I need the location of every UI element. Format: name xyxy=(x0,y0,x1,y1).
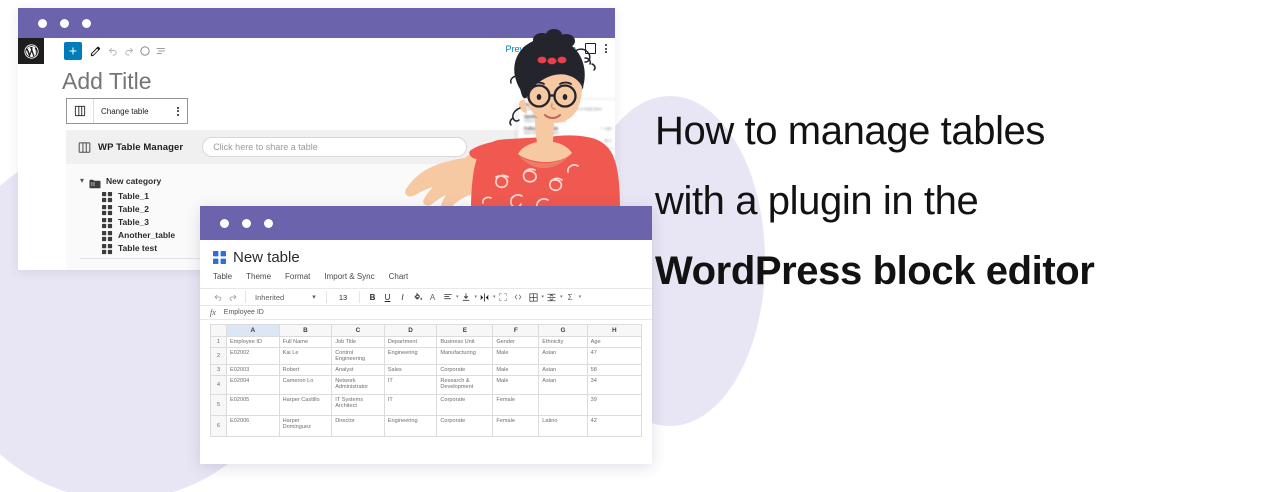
window-dot-close[interactable] xyxy=(38,19,47,28)
grid-corner-cell[interactable] xyxy=(211,325,227,337)
column-header-row: A B C D E F G H xyxy=(211,325,642,337)
dropdown-item-title: Visual editor xyxy=(524,159,615,164)
merge-cells-icon[interactable] xyxy=(477,290,492,305)
cell-e6[interactable]: Corporate xyxy=(437,416,493,437)
bold-button[interactable]: B xyxy=(365,290,380,305)
headline-line-1: How to manage tables xyxy=(655,96,1255,166)
tree-category-label: New category xyxy=(106,176,161,186)
post-title-placeholder[interactable]: Add Title xyxy=(62,68,152,95)
cell-e3[interactable]: Corporate xyxy=(437,365,493,376)
row-header[interactable]: 2 xyxy=(211,348,227,365)
cell-a2[interactable]: E02002 xyxy=(227,348,280,365)
dropdown-item-shortcut: ⌃⌥⌘F xyxy=(599,127,612,131)
row-header[interactable]: 3 xyxy=(211,365,227,376)
cell-b4[interactable]: Cameron Lo xyxy=(279,376,332,395)
cell-d2[interactable]: Engineering xyxy=(384,348,437,365)
dropdown-item-subtitle: Work without distraction xyxy=(524,131,615,135)
cell-d4[interactable]: IT xyxy=(384,376,437,395)
cell-g5[interactable] xyxy=(539,395,587,416)
cell-g1[interactable]: Ethnicity xyxy=(539,337,587,348)
cell-h6[interactable]: 42 xyxy=(587,416,641,437)
window-dot-minimize[interactable] xyxy=(60,19,69,28)
cell-f3[interactable]: Male xyxy=(493,365,539,376)
cell-c4[interactable]: Network Administrator xyxy=(332,376,385,395)
tree-item-label: Table_3 xyxy=(118,217,149,227)
wp-table-manager-title: WP Table Manager xyxy=(98,142,183,153)
code-icon[interactable] xyxy=(511,290,526,305)
row-header[interactable]: 6 xyxy=(211,416,227,437)
dropdown-item-spotlight-mode[interactable]: Spotlight mode Focus on one block at a t… xyxy=(518,112,615,124)
publish-button[interactable]: Publish xyxy=(546,44,576,54)
change-table-label[interactable]: Change table xyxy=(94,107,169,116)
cell-b5[interactable]: Harper Castillo xyxy=(279,395,332,416)
back-window-titlebar xyxy=(18,8,615,38)
dropdown-section-editor: Editor xyxy=(518,148,615,157)
wrap-text-icon[interactable] xyxy=(496,290,511,305)
dropdown-item-subtitle: Focus on one block at a time xyxy=(524,119,615,123)
align-left-icon[interactable] xyxy=(440,290,455,305)
table-manager-window: New table Table Theme Format Import & Sy… xyxy=(200,206,652,464)
dropdown-item-shortcut: ⌘⇧\ xyxy=(604,139,612,143)
screenshot-canvas: Preview Publish Add Title Change table xyxy=(0,0,1280,492)
cell-d6[interactable]: Engineering xyxy=(384,416,437,437)
cell-h2[interactable]: 47 xyxy=(587,348,641,365)
cell-g2[interactable]: Asian xyxy=(539,348,587,365)
spreadsheet-menubar: Table Theme Format Import & Sync Chart xyxy=(200,266,652,281)
dropdown-item-top-toolbar[interactable]: Top toolbar Access all block and documen… xyxy=(518,100,615,112)
cell-a6[interactable]: E02006 xyxy=(227,416,280,437)
undo-icon[interactable] xyxy=(210,290,225,305)
block-more-options-icon[interactable] xyxy=(169,107,187,116)
divider xyxy=(326,291,327,303)
cell-g4[interactable]: Asian xyxy=(539,376,587,395)
page-title: How to manage tables with a plugin in th… xyxy=(655,96,1255,306)
headline-line-3: WordPress block editor xyxy=(655,236,1255,306)
chevron-down-icon[interactable]: ▾ xyxy=(307,293,321,301)
cell-f4[interactable]: Male xyxy=(493,376,539,395)
paint-bucket-icon[interactable] xyxy=(410,290,425,305)
row-height-icon[interactable] xyxy=(544,290,559,305)
cell-d5[interactable]: IT xyxy=(384,395,437,416)
formula-input[interactable]: Employee ID xyxy=(224,309,264,316)
table-row: 1 Employee ID Full Name Job Title Depart… xyxy=(211,337,642,348)
dropdown-item-visual-editor[interactable]: Visual editor ✓ xyxy=(518,157,615,165)
menu-format[interactable]: Format xyxy=(285,272,310,281)
divider xyxy=(359,291,360,303)
cell-b6[interactable]: Harper Dominguez xyxy=(279,416,332,437)
spreadsheet-grid: A B C D E F G H 1 Employee xyxy=(210,324,642,437)
cell-e5[interactable]: Corporate xyxy=(437,395,493,416)
wordpress-top-toolbar: Preview Publish xyxy=(18,38,615,64)
table-name-row: New table xyxy=(200,240,652,266)
block-toolbar: Change table xyxy=(66,98,188,124)
dropdown-item-subtitle: Access all block and document tools in a… xyxy=(524,107,615,111)
table-columns-icon xyxy=(77,140,92,155)
cell-c1[interactable]: Job Title xyxy=(332,337,385,348)
cell-g6[interactable]: Latino xyxy=(539,416,587,437)
italic-button[interactable]: I xyxy=(395,290,410,305)
cell-a5[interactable]: E02005 xyxy=(227,395,280,416)
table-block-icon[interactable] xyxy=(67,99,94,123)
cell-a3[interactable]: E02003 xyxy=(227,365,280,376)
column-header-g[interactable]: G xyxy=(539,325,587,337)
tree-item-label: Another_table xyxy=(118,230,175,240)
column-header-b[interactable]: B xyxy=(279,325,332,337)
grid-icon xyxy=(102,203,113,214)
kebab-menu-icon[interactable] xyxy=(605,44,607,53)
cell-c2[interactable]: Control Engineering xyxy=(332,348,385,365)
row-header[interactable]: 5 xyxy=(211,395,227,416)
font-family-select[interactable]: Inherited xyxy=(251,293,307,302)
table-row: 5 E02005 Harper Castillo IT Systems Arch… xyxy=(211,395,642,416)
window-dot-close[interactable] xyxy=(220,219,229,228)
cell-b3[interactable]: Robert xyxy=(279,365,332,376)
table-row: 6 E02006 Harper Dominguez Director Engin… xyxy=(211,416,642,437)
cell-h3[interactable]: 58 xyxy=(587,365,641,376)
cell-c6[interactable]: Director xyxy=(332,416,385,437)
grid-icon xyxy=(102,229,113,240)
cell-e4[interactable]: Research & Development xyxy=(437,376,493,395)
settings-sidebar-icon[interactable] xyxy=(585,43,596,54)
cell-e2[interactable]: Manufacturing xyxy=(437,348,493,365)
column-header-c[interactable]: C xyxy=(332,325,385,337)
cell-b1[interactable]: Full Name xyxy=(279,337,332,348)
row-header[interactable]: 1 xyxy=(211,337,227,348)
table-name[interactable]: New table xyxy=(233,249,300,266)
cell-f1[interactable]: Gender xyxy=(493,337,539,348)
cell-f6[interactable]: Female xyxy=(493,416,539,437)
dropdown-item-distraction-free[interactable]: Distraction free Write with calmness ⌘⇧\ xyxy=(518,136,615,148)
preview-button[interactable]: Preview xyxy=(505,44,537,54)
spreadsheet-grid-wrapper: A B C D E F G H 1 Employee xyxy=(200,320,652,437)
underline-button[interactable]: U xyxy=(380,290,395,305)
cell-c3[interactable]: Analyst xyxy=(332,365,385,376)
column-header-h[interactable]: H xyxy=(587,325,641,337)
headline-line-2: with a plugin in the xyxy=(655,166,1255,236)
menu-import-sync[interactable]: Import & Sync xyxy=(324,272,374,281)
table-row: 3 E02003 Robert Analyst Sales Corporate … xyxy=(211,365,642,376)
grid-icon xyxy=(102,242,113,253)
cell-h5[interactable]: 39 xyxy=(587,395,641,416)
chevron-down-icon[interactable]: ▾ xyxy=(80,177,84,185)
cell-e1[interactable]: Business Unit xyxy=(437,337,493,348)
vertical-align-icon[interactable] xyxy=(459,290,474,305)
cell-d1[interactable]: Department xyxy=(384,337,437,348)
text-color-icon[interactable]: A xyxy=(425,290,440,305)
folder-icon xyxy=(89,176,101,186)
font-size-input[interactable]: 13 xyxy=(332,293,354,302)
column-header-a[interactable]: A xyxy=(227,325,280,337)
menu-theme[interactable]: Theme xyxy=(246,272,271,281)
cell-h4[interactable]: 34 xyxy=(587,376,641,395)
table-row: 4 E02004 Cameron Lo Network Administrato… xyxy=(211,376,642,395)
grid-icon xyxy=(102,216,113,227)
grid-icon xyxy=(102,190,113,201)
wordpress-publish-actions: Preview Publish xyxy=(505,43,607,54)
redo-icon[interactable] xyxy=(225,290,240,305)
share-table-input[interactable]: Click here to share a table xyxy=(202,137,467,157)
tree-item-label: Table test xyxy=(118,243,157,253)
divider xyxy=(245,291,246,303)
cell-f2[interactable]: Male xyxy=(493,348,539,365)
dropdown-item-code-editor[interactable]: ⌃⌥⌘M xyxy=(518,165,615,168)
front-window-titlebar xyxy=(200,206,652,240)
tree-item-label: Table_2 xyxy=(118,204,149,214)
formula-bar: fx Employee ID xyxy=(200,306,652,320)
cell-d3[interactable]: Sales xyxy=(384,365,437,376)
spreadsheet-format-toolbar: Inherited ▾ 13 B U I A ▾ ▾ xyxy=(200,288,652,306)
sigma-icon[interactable]: Σ xyxy=(563,290,578,305)
tree-item-label: Table_1 xyxy=(118,191,149,201)
cell-a1[interactable]: Employee ID xyxy=(227,337,280,348)
grid-blue-icon xyxy=(213,251,226,264)
wordpress-logo-icon[interactable] xyxy=(18,38,44,64)
add-block-button[interactable] xyxy=(64,42,82,60)
editor-options-dropdown[interactable]: Top toolbar Access all block and documen… xyxy=(518,100,615,218)
column-header-e[interactable]: E xyxy=(437,325,493,337)
cell-g3[interactable]: Asian xyxy=(539,365,587,376)
chevron-down-icon[interactable]: ▾ xyxy=(579,294,582,300)
column-header-f[interactable]: F xyxy=(493,325,539,337)
borders-icon[interactable] xyxy=(526,290,541,305)
menu-table[interactable]: Table xyxy=(213,272,232,281)
list-view-icon[interactable] xyxy=(152,42,170,60)
dropdown-item-shortcut: ⌃⌥⌘M xyxy=(598,168,612,172)
cell-a4[interactable]: E02004 xyxy=(227,376,280,395)
cell-h1[interactable]: Age xyxy=(587,337,641,348)
column-header-d[interactable]: D xyxy=(384,325,437,337)
window-dot-maximize[interactable] xyxy=(264,219,273,228)
fx-label: fx xyxy=(210,308,216,317)
cell-c5[interactable]: IT Systems Architect xyxy=(332,395,385,416)
window-dot-minimize[interactable] xyxy=(242,219,251,228)
cell-f5[interactable]: Female xyxy=(493,395,539,416)
pencil-icon[interactable] xyxy=(86,42,104,60)
spreadsheet-body: New table Table Theme Format Import & Sy… xyxy=(200,240,652,464)
dropdown-item-fullscreen-mode[interactable]: Fullscreen mode Work without distraction… xyxy=(518,124,615,136)
cell-b2[interactable]: Kai Le xyxy=(279,348,332,365)
table-row: 2 E02002 Kai Le Control Engineering Engi… xyxy=(211,348,642,365)
row-header[interactable]: 4 xyxy=(211,376,227,395)
dropdown-item-subtitle: Write with calmness xyxy=(524,143,615,147)
menu-chart[interactable]: Chart xyxy=(389,272,409,281)
window-dot-maximize[interactable] xyxy=(82,19,91,28)
